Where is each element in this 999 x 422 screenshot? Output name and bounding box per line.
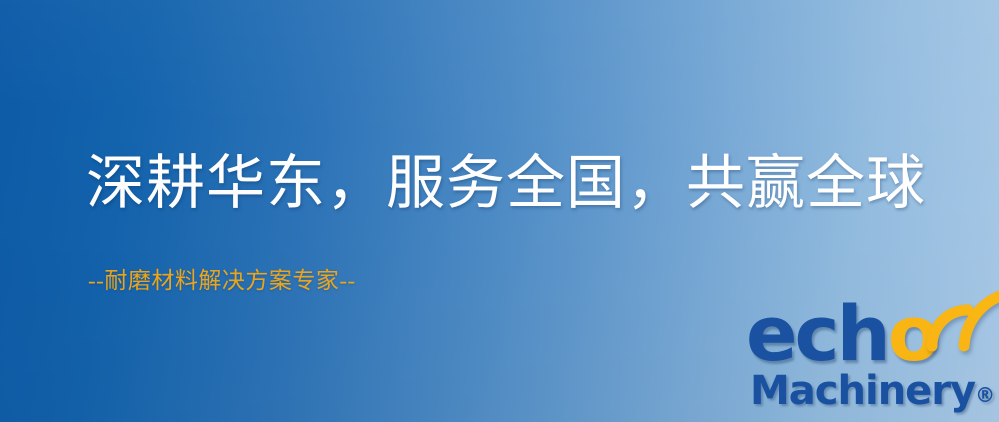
banner-headline: 深耕华东，服务全国，共赢全球	[86, 148, 926, 218]
logo-subword-machinery: Machinery®	[750, 369, 995, 417]
signal-waves-icon	[924, 290, 999, 370]
registered-trademark-icon: ®	[975, 383, 995, 407]
logo-wordmark-echo: echo	[746, 296, 937, 372]
banner-subtitle: --耐磨材料解决方案专家--	[88, 265, 356, 297]
logo-text-machinery: Machinery	[750, 368, 975, 414]
logo-text-ech: ech	[746, 289, 888, 378]
company-logo: echo Machinery®	[746, 296, 999, 422]
promo-banner: 深耕华东，服务全国，共赢全球 --耐磨材料解决方案专家-- echo Machi…	[0, 0, 999, 422]
